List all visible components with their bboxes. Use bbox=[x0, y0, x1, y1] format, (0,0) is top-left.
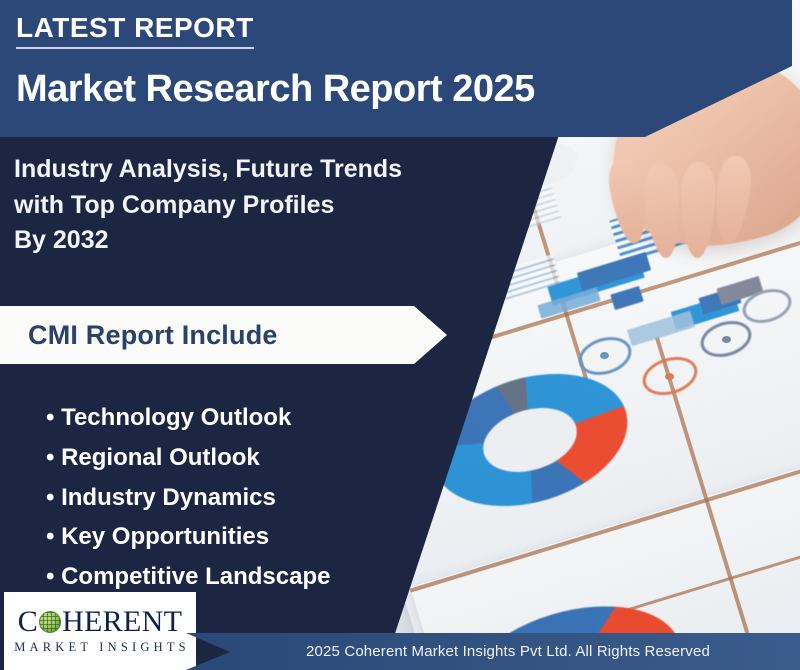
report-banner-image: LATEST REPORT Market Research Report 202… bbox=[0, 0, 800, 670]
list-item: Regional Outlook bbox=[46, 438, 406, 478]
list-item: Industry Dynamics bbox=[46, 478, 406, 518]
logo-tagline: MARKET INSIGHTS bbox=[10, 640, 190, 655]
page-title: Market Research Report 2025 bbox=[16, 70, 676, 110]
copyright-text: 2025 Coherent Market Insights Pvt Ltd. A… bbox=[276, 643, 710, 660]
ring-chart-dot bbox=[600, 352, 609, 359]
eyebrow-label: LATEST REPORT bbox=[16, 14, 254, 49]
ring-chart-dot bbox=[665, 373, 674, 380]
list-item: Key Opportunities bbox=[46, 517, 406, 557]
feature-bullet-list: Technology Outlook Regional Outlook Indu… bbox=[6, 398, 406, 597]
subtitle-line-1: Industry Analysis, Future Trends bbox=[14, 152, 544, 188]
globe-icon bbox=[39, 611, 61, 633]
subtitle: Industry Analysis, Future Trends with To… bbox=[14, 152, 544, 259]
coherent-market-insights-logo: C HERENT MARKET INSIGHTS bbox=[4, 592, 196, 670]
cmi-report-include-ribbon: CMI Report Include bbox=[0, 306, 448, 364]
ring-chart-dot bbox=[722, 336, 731, 343]
footer-bar: 2025 Coherent Market Insights Pvt Ltd. A… bbox=[186, 633, 800, 670]
list-item: Technology Outlook bbox=[46, 398, 406, 438]
subtitle-line-2: with Top Company Profiles bbox=[14, 188, 544, 224]
ribbon-label: CMI Report Include bbox=[28, 320, 278, 351]
logo-letter-c: C bbox=[18, 607, 38, 637]
subtitle-line-3: By 2032 bbox=[14, 223, 544, 259]
logo-wordmark: C HERENT bbox=[18, 607, 182, 637]
logo-name-rest: HERENT bbox=[62, 607, 182, 637]
